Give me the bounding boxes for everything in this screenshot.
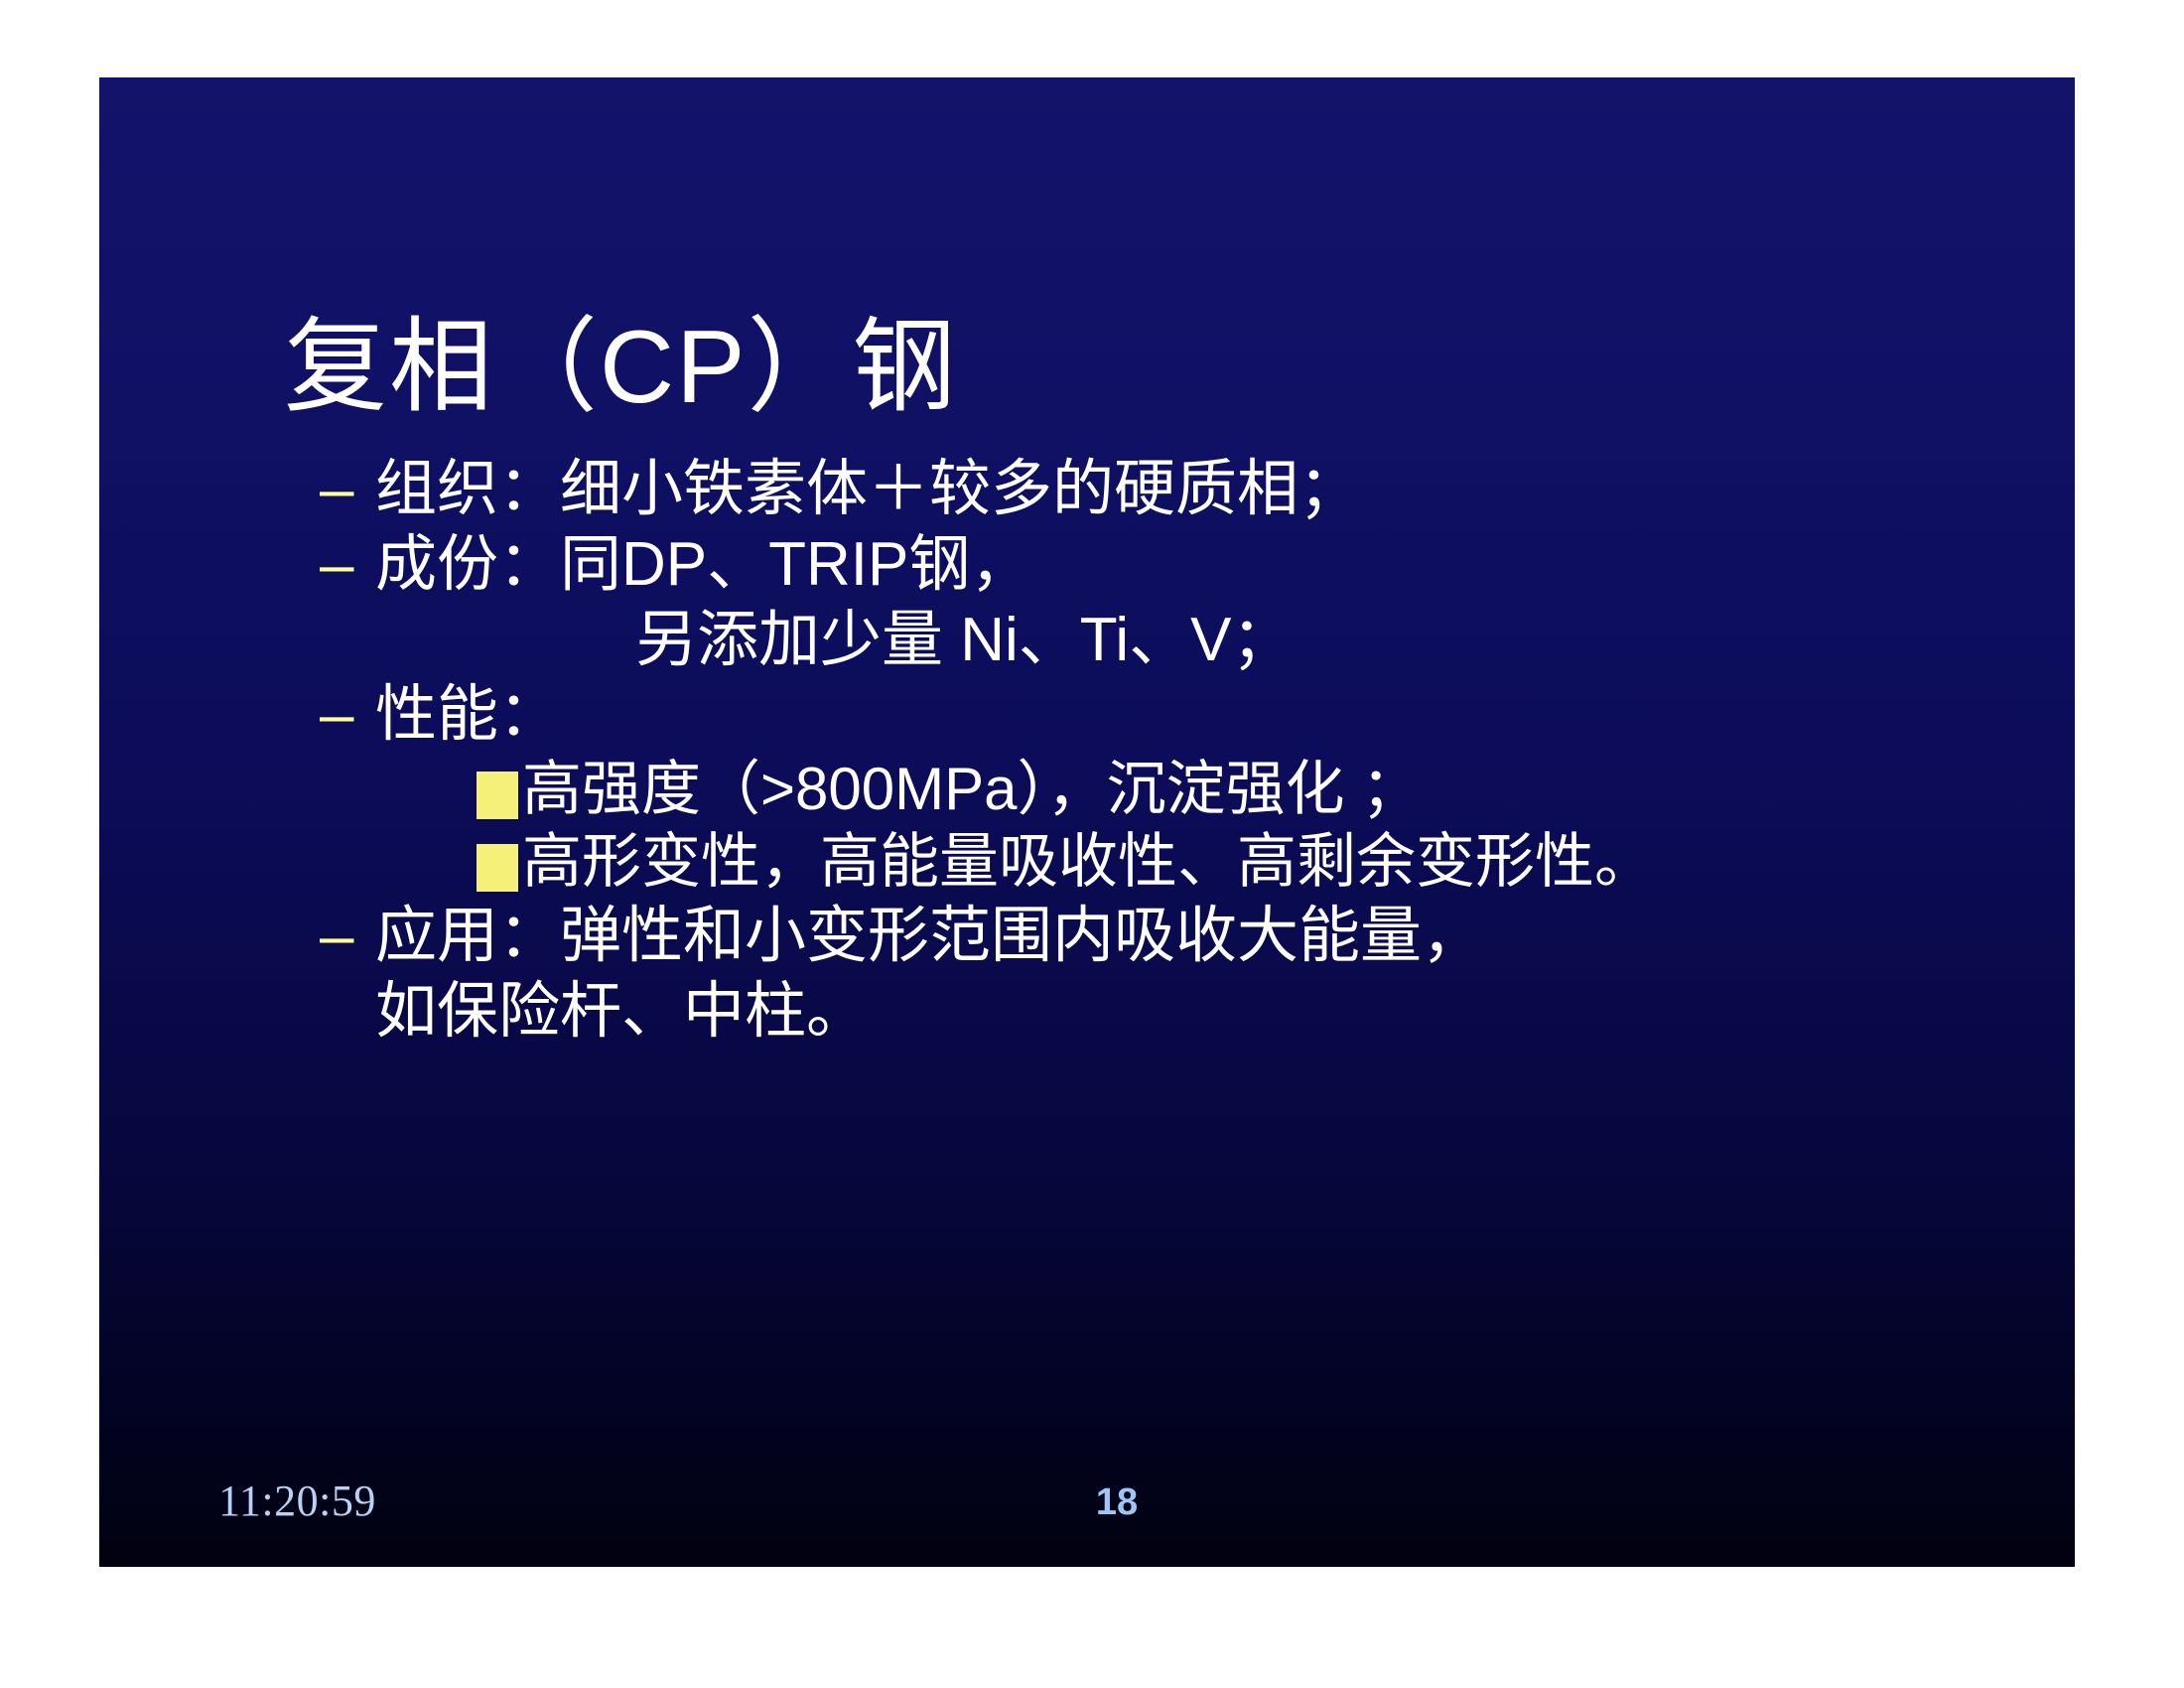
square-bullet-icon <box>477 772 518 819</box>
bullet-text: 性能： <box>375 678 560 752</box>
continuation-line-alloying: 另添加少量 Ni、Ti、V； <box>208 604 2025 677</box>
dash-bullet-icon: – <box>320 453 375 526</box>
dash-bullet-icon: – <box>320 900 375 973</box>
bullet-line-properties: – 性能： <box>208 678 2025 752</box>
dash-bullet-icon: – <box>320 678 375 752</box>
square-bullet-icon <box>477 844 518 892</box>
bullet-text: 组织：细小铁素体＋较多的硬质相； <box>375 453 1360 526</box>
continuation-line-application: 如保险杆、中柱。 <box>208 975 2025 1049</box>
dash-bullet-icon: – <box>320 528 375 602</box>
bullet-line-composition: – 成份：同DP、TRIP钢， <box>208 528 2025 602</box>
bullet-text: 高形变性，高能量吸收性、高剩余变形性。 <box>522 826 1654 897</box>
bullet-text: 应用：弹性和小变形范围内吸收大能量， <box>375 900 1483 973</box>
footer-page-number: 18 <box>159 1483 2075 1521</box>
slide-canvas: 复相（CP）钢 – 组织：细小铁素体＋较多的硬质相； – 成份：同DP、TRIP… <box>99 77 2075 1567</box>
bullet-line-organization: – 组织：细小铁素体＋较多的硬质相； <box>208 453 2025 526</box>
sub-bullet-line-strength: 高强度（>800MPa），沉淀强化 ； <box>208 754 2025 824</box>
slide-page: 复相（CP）钢 – 组织：细小铁素体＋较多的硬质相； – 成份：同DP、TRIP… <box>0 0 2184 1688</box>
bullet-text: 另添加少量 Ni、Ti、V； <box>635 604 1293 677</box>
bullet-text: 高强度（>800MPa），沉淀强化 ； <box>522 754 1421 824</box>
bullet-text: 如保险杆、中柱。 <box>375 975 868 1049</box>
sub-bullet-line-formability: 高形变性，高能量吸收性、高剩余变形性。 <box>208 826 2025 897</box>
page-title: 复相（CP）钢 <box>284 314 957 422</box>
bullet-text: 成份：同DP、TRIP钢， <box>375 528 1031 602</box>
slide-body: – 组织：细小铁素体＋较多的硬质相； – 成份：同DP、TRIP钢， 另添加少量… <box>208 453 2025 1050</box>
bullet-line-application: – 应用：弹性和小变形范围内吸收大能量， <box>208 900 2025 973</box>
